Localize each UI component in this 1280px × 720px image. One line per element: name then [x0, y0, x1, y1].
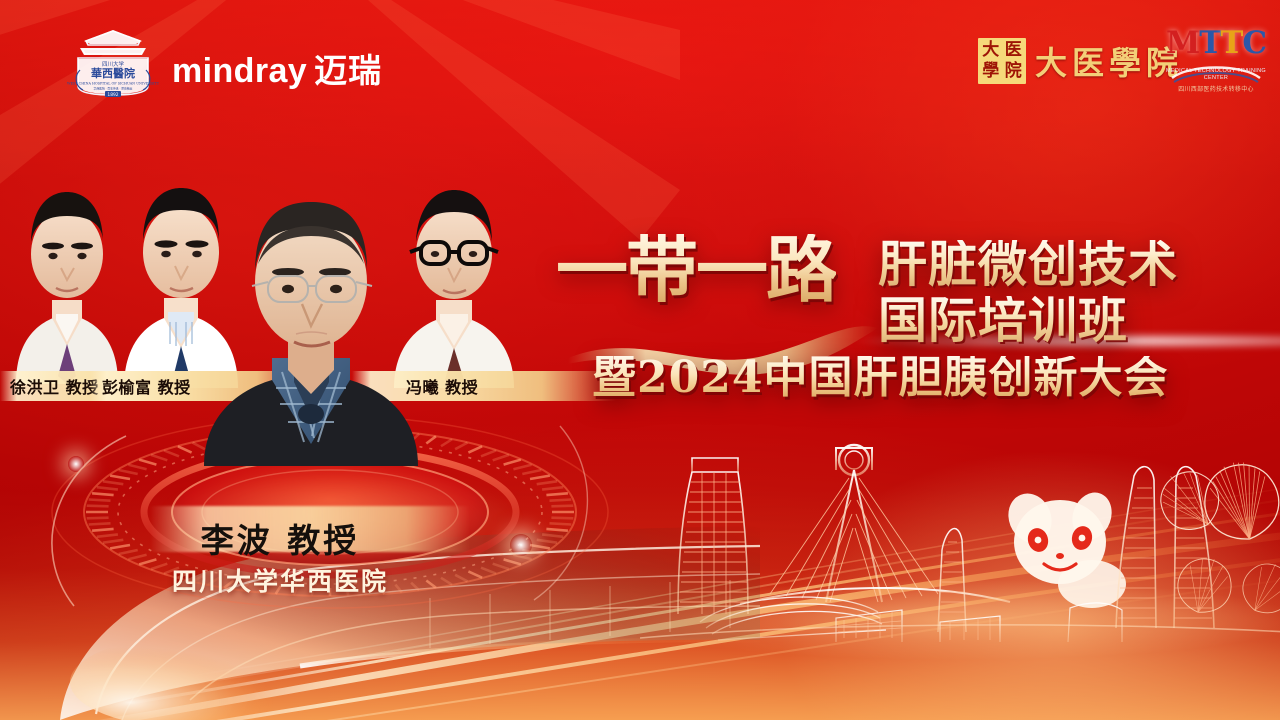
title-line-1: 肝脏微创技术: [878, 240, 1178, 289]
mttc-logo: MTTC MEDICAL TECHNOLOGY TRAINING CENTER …: [1164, 28, 1268, 102]
tower-left-floors: [680, 472, 747, 614]
speaker-photo-1: [8, 168, 126, 384]
low-rise-buildings: [836, 603, 1122, 642]
cable-bridge-icon: [826, 445, 882, 602]
title-line-2: 国际培训班: [878, 296, 1128, 345]
mindray-wordmark-cn: 迈瑞: [314, 52, 382, 89]
dayi-academy-text: 大医學院: [1035, 38, 1183, 84]
poster-canvas: 四川大学 華西醫院 WEST CHINA HOSPITAL OF SICHUAN…: [0, 0, 1280, 720]
mttc-letter-c: C: [1242, 25, 1266, 61]
featured-speaker-organization: 四川大学华西医院: [0, 562, 560, 598]
tower-left-icon: [678, 458, 748, 614]
dayi-academy-logo: 大 医 學 院 大医學院: [978, 38, 1183, 84]
svg-text:1892: 1892: [107, 92, 118, 98]
bridge-cables: [770, 478, 938, 602]
bridge-deck: [740, 588, 1010, 604]
skyline-baseline: [640, 625, 1280, 638]
west-china-hospital-logo: 四川大学 華西醫院 WEST CHINA HOSPITAL OF SICHUAN…: [64, 26, 162, 98]
svg-text:華西醫院: 華西醫院: [91, 66, 135, 80]
chengdu-skyline-illustration: [640, 432, 1280, 642]
twin-towers-icon: [1116, 467, 1214, 628]
svg-text:华西医院 · 百年传承 · 厚德精业: 华西医院 · 百年传承 · 厚德精业: [94, 87, 133, 91]
mttc-letter-m: M: [1166, 25, 1199, 61]
mttc-letter-t2: T: [1220, 25, 1242, 61]
mindray-wordmark-en: mindray: [172, 52, 307, 90]
mttc-swoosh-icon: [1170, 62, 1262, 84]
svg-text:WEST CHINA HOSPITAL OF SICHUAN: WEST CHINA HOSPITAL OF SICHUAN UNIVERSIT…: [67, 82, 160, 86]
seal-char-1: 大: [980, 40, 1002, 61]
seal-char-4: 院: [1003, 62, 1025, 83]
poster-header: 四川大学 華西醫院 WEST CHINA HOSPITAL OF SICHUAN…: [0, 0, 1280, 120]
mttc-letter-t1: T: [1199, 25, 1220, 61]
seal-char-2: 医: [1003, 40, 1025, 61]
speaker-name-2: 彭榆富 教授: [102, 374, 191, 398]
seal-char-3: 學: [980, 62, 1002, 83]
title-subtitle: 暨2024中国肝胆胰创新大会: [592, 356, 1168, 400]
featured-speaker-name: 李波 教授: [0, 514, 560, 562]
title-badge-belt-and-road: 一带一路: [556, 234, 836, 306]
mindray-logo: mindray迈瑞: [172, 44, 382, 92]
event-title-block: 一带一路 肝脏微创技术 国际培训班 暨2024中国肝胆胰创新大会: [548, 228, 1248, 408]
ginkgo-leaves-icon: [1148, 455, 1280, 622]
featured-speaker-photo: [196, 186, 426, 466]
dayi-seal-icon: 大 医 學 院: [978, 38, 1026, 84]
mttc-wordmark: MTTC: [1164, 28, 1268, 59]
panda-icon: [1001, 487, 1126, 608]
spark-light-left: [68, 456, 84, 472]
spire-tower-icon: [938, 528, 966, 632]
mttc-subtitle-cn: 四川西部医药技术转移中心: [1164, 84, 1268, 93]
speaker-name-1: 徐洪卫 教授: [10, 374, 99, 398]
